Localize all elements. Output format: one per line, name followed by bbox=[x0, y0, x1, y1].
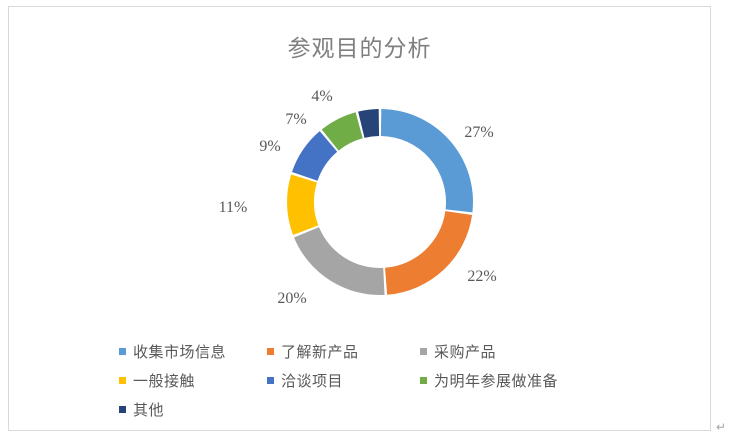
legend-swatch-icon bbox=[119, 348, 126, 355]
legend-swatch-icon bbox=[420, 377, 427, 384]
legend-row: 其他 bbox=[119, 395, 699, 424]
legend-item[interactable]: 其他 bbox=[119, 399, 267, 420]
legend-label: 洽谈项目 bbox=[281, 370, 343, 391]
chart-plot-area[interactable]: 27%22%20%11%9%7%4% bbox=[9, 7, 712, 327]
data-label: 4% bbox=[311, 88, 332, 106]
legend-item[interactable]: 洽谈项目 bbox=[267, 370, 420, 391]
legend-label: 为明年参展做准备 bbox=[434, 370, 558, 391]
data-label: 27% bbox=[464, 124, 493, 142]
data-label: 7% bbox=[285, 111, 306, 129]
legend-swatch-icon bbox=[267, 377, 274, 384]
legend-swatch-icon bbox=[119, 377, 126, 384]
legend-item[interactable]: 一般接触 bbox=[119, 370, 267, 391]
chart-object-frame[interactable]: 参观目的分析 27%22%20%11%9%7%4% 收集市场信息了解新产品采购产… bbox=[8, 6, 711, 431]
data-label: 20% bbox=[277, 290, 306, 308]
doughnut-chart-svg bbox=[9, 7, 712, 327]
legend-swatch-icon bbox=[119, 406, 126, 413]
legend-swatch-icon bbox=[267, 348, 274, 355]
legend-label: 采购产品 bbox=[434, 341, 496, 362]
legend-swatch-icon bbox=[420, 348, 427, 355]
doughnut-slice[interactable] bbox=[381, 109, 473, 212]
legend-item[interactable]: 为明年参展做准备 bbox=[420, 370, 620, 391]
doughnut-slice[interactable] bbox=[287, 174, 318, 235]
paragraph-mark-icon: ↵ bbox=[716, 420, 726, 434]
doughnut-slice-group bbox=[287, 109, 473, 295]
doughnut-slice[interactable] bbox=[294, 227, 385, 295]
legend-item[interactable]: 采购产品 bbox=[420, 341, 620, 362]
legend-label: 一般接触 bbox=[133, 370, 195, 391]
legend-label: 收集市场信息 bbox=[133, 341, 226, 362]
doughnut-slice[interactable] bbox=[385, 211, 472, 295]
legend-row: 一般接触洽谈项目为明年参展做准备 bbox=[119, 366, 699, 395]
legend-item[interactable]: 了解新产品 bbox=[267, 341, 420, 362]
legend-item[interactable]: 收集市场信息 bbox=[119, 341, 267, 362]
legend-row: 收集市场信息了解新产品采购产品 bbox=[119, 337, 699, 366]
document-page: 参观目的分析 27%22%20%11%9%7%4% 收集市场信息了解新产品采购产… bbox=[0, 0, 740, 448]
legend-label: 了解新产品 bbox=[281, 341, 359, 362]
data-label: 11% bbox=[219, 199, 248, 217]
data-label: 22% bbox=[467, 268, 496, 286]
legend-label: 其他 bbox=[133, 399, 164, 420]
data-label: 9% bbox=[259, 138, 280, 156]
chart-legend[interactable]: 收集市场信息了解新产品采购产品一般接触洽谈项目为明年参展做准备其他 bbox=[119, 337, 699, 424]
